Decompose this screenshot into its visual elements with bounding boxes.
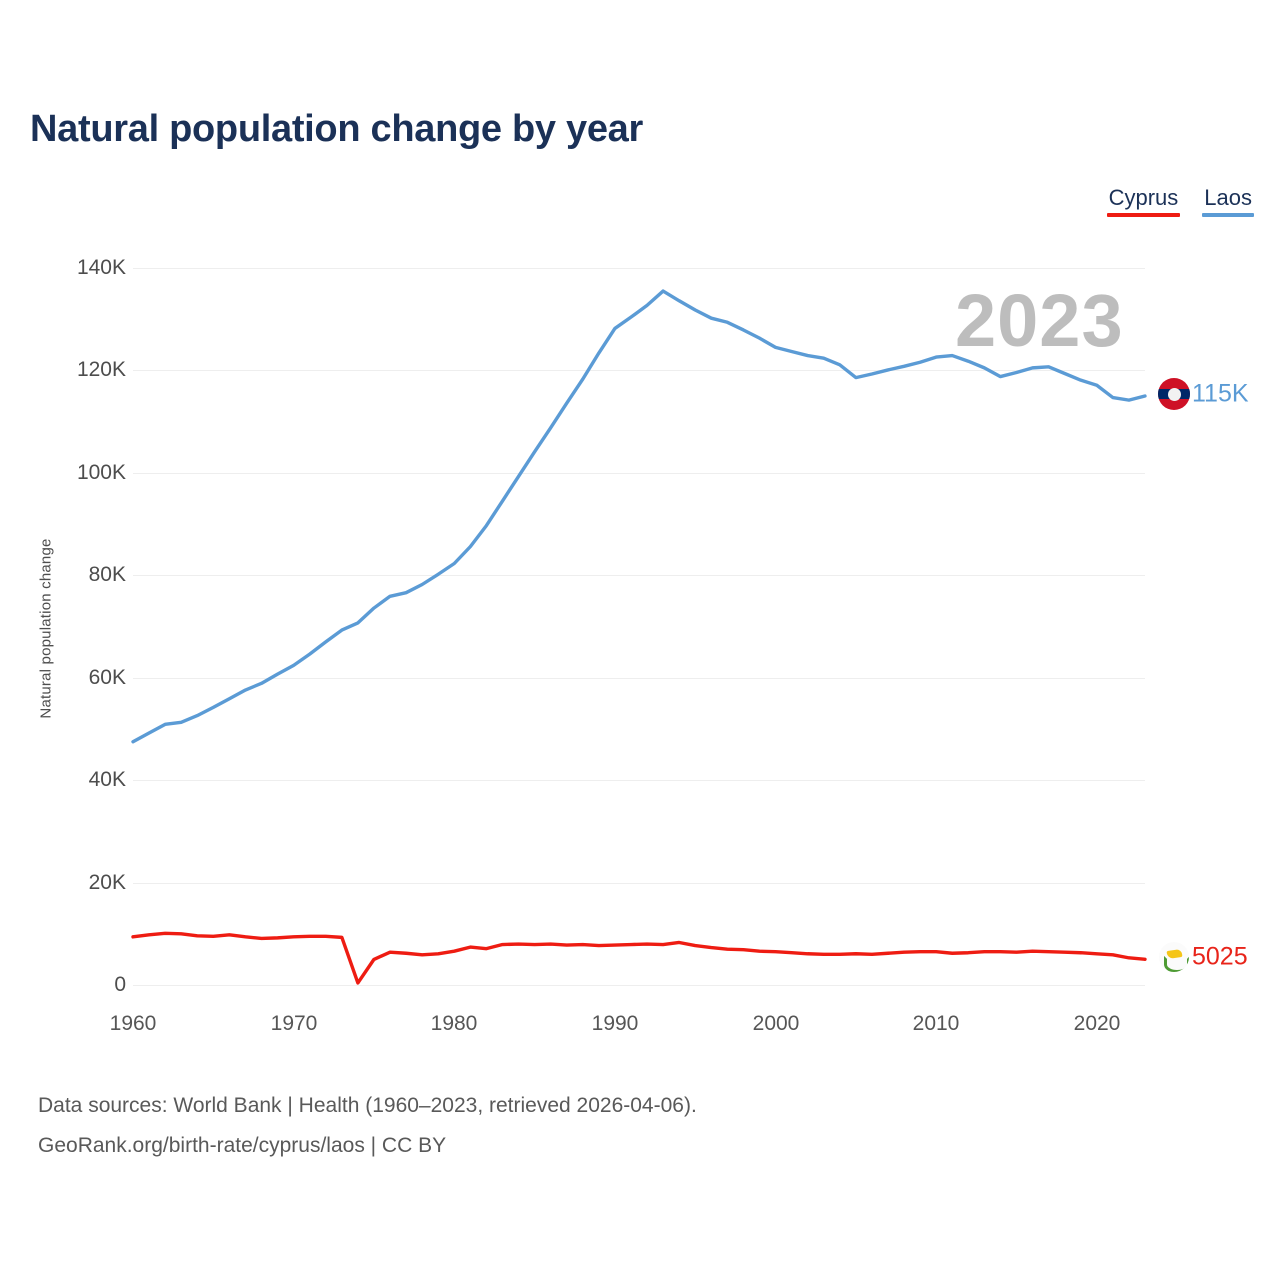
y-axis-tick-label: 100K bbox=[77, 461, 126, 485]
y-axis-tick-label: 60K bbox=[89, 666, 126, 690]
cyprus-flag-icon bbox=[1159, 942, 1189, 972]
y-axis-tick-label: 80K bbox=[89, 563, 126, 587]
footer: Data sources: World Bank | Health (1960–… bbox=[38, 1086, 697, 1166]
y-axis-tick-label: 40K bbox=[89, 768, 126, 792]
laos-flag-disc bbox=[1168, 388, 1181, 401]
x-axis-tick-label: 2000 bbox=[753, 1012, 800, 1036]
x-axis-tick-label: 1980 bbox=[431, 1012, 478, 1036]
y-axis-tick-label: 120K bbox=[77, 358, 126, 382]
line-series-laos bbox=[133, 291, 1145, 742]
gridline bbox=[133, 780, 1145, 781]
gridline bbox=[133, 985, 1145, 986]
y-axis-label: Natural population change bbox=[38, 509, 55, 749]
x-axis-tick-label: 1970 bbox=[271, 1012, 318, 1036]
x-axis-tick-label: 1960 bbox=[110, 1012, 157, 1036]
chart-page: Natural population change by year Cyprus… bbox=[0, 0, 1280, 1280]
gridline bbox=[133, 575, 1145, 576]
gridline bbox=[133, 678, 1145, 679]
laos-end-label: 115K bbox=[1192, 380, 1249, 409]
x-axis-tick-label: 2020 bbox=[1074, 1012, 1121, 1036]
footer-line-sources: Data sources: World Bank | Health (1960–… bbox=[38, 1086, 697, 1126]
footer-line-attribution[interactable]: GeoRank.org/birth-rate/cyprus/laos | CC … bbox=[38, 1126, 697, 1166]
y-axis-tick-label: 20K bbox=[89, 871, 126, 895]
line-series-cyprus bbox=[133, 933, 1145, 983]
y-axis-tick-label: 0 bbox=[114, 973, 126, 997]
gridline bbox=[133, 883, 1145, 884]
laos-flag-icon bbox=[1158, 378, 1190, 410]
x-axis-tick-label: 2010 bbox=[913, 1012, 960, 1036]
gridline bbox=[133, 370, 1145, 371]
cyprus-end-label: 5025 bbox=[1192, 943, 1248, 972]
cyprus-flag-olive-branch bbox=[1164, 956, 1189, 972]
gridline bbox=[133, 268, 1145, 269]
gridline bbox=[133, 473, 1145, 474]
y-axis-tick-label: 140K bbox=[77, 256, 126, 280]
x-axis-tick-label: 1990 bbox=[592, 1012, 639, 1036]
